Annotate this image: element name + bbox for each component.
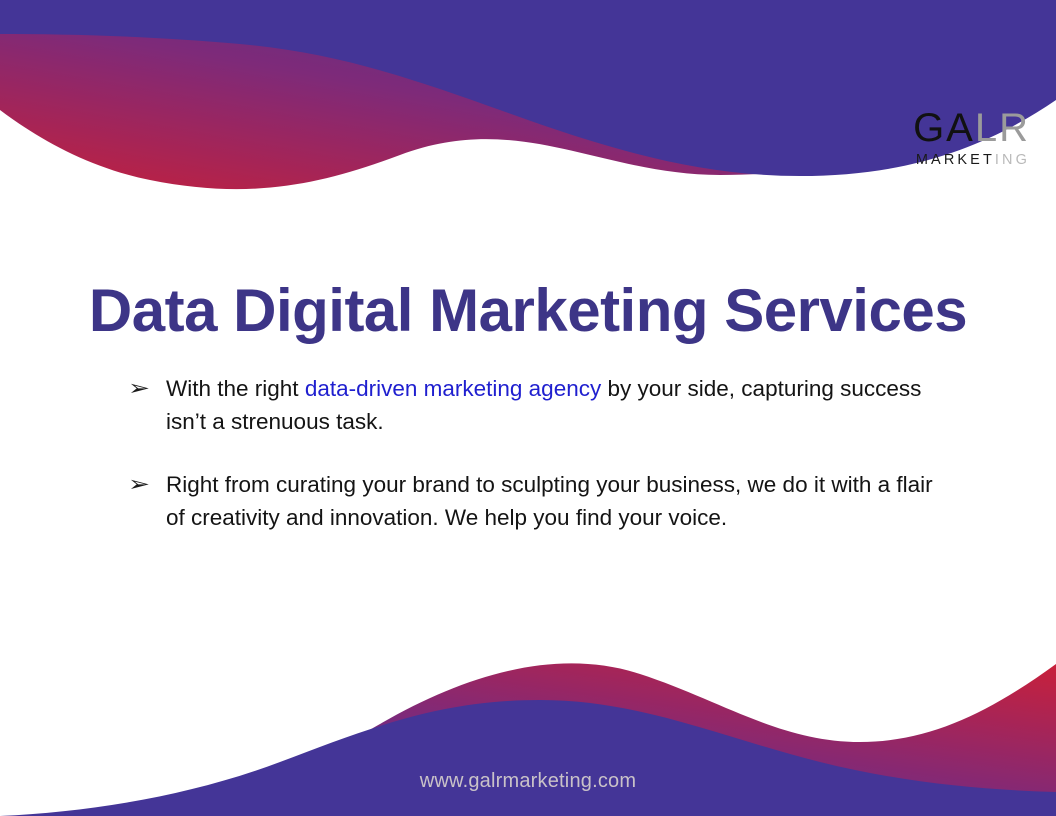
logo-tagline: MARKETING bbox=[913, 153, 1030, 168]
bullet-list: ➢ With the right data-driven marketing a… bbox=[128, 372, 940, 564]
slide-canvas: GALR MARKETING Data Digital Marketing Se… bbox=[0, 0, 1056, 816]
logo-wordmark-dark: GA bbox=[913, 106, 975, 150]
bottom-indigo-wave bbox=[0, 700, 1056, 816]
inline-link[interactable]: data-driven marketing agency bbox=[305, 376, 601, 401]
top-gradient-wave bbox=[0, 0, 1056, 189]
list-item: ➢ With the right data-driven marketing a… bbox=[128, 372, 940, 438]
slide-title: Data Digital Marketing Services bbox=[0, 276, 1056, 345]
logo-tagline-light: ING bbox=[995, 152, 1030, 168]
logo-wordmark-light: LR bbox=[975, 106, 1030, 150]
logo-tagline-dark: MARKET bbox=[916, 152, 995, 168]
list-item-text: Right from curating your brand to sculpt… bbox=[166, 468, 940, 534]
brand-logo: GALR MARKETING bbox=[913, 108, 1030, 168]
bottom-gradient-wave bbox=[0, 663, 1056, 816]
arrow-bullet-icon: ➢ bbox=[128, 468, 176, 501]
logo-wordmark: GALR bbox=[913, 108, 1030, 148]
top-indigo-wave bbox=[0, 0, 1056, 176]
arrow-bullet-icon: ➢ bbox=[128, 372, 176, 405]
list-item-text: With the right data-driven marketing age… bbox=[166, 372, 940, 438]
list-item-text-pre: Right from curating your brand to sculpt… bbox=[166, 472, 933, 530]
list-item-text-pre: With the right bbox=[166, 376, 305, 401]
list-item: ➢ Right from curating your brand to scul… bbox=[128, 468, 940, 534]
footer-website-url[interactable]: www.galrmarketing.com bbox=[0, 770, 1056, 793]
